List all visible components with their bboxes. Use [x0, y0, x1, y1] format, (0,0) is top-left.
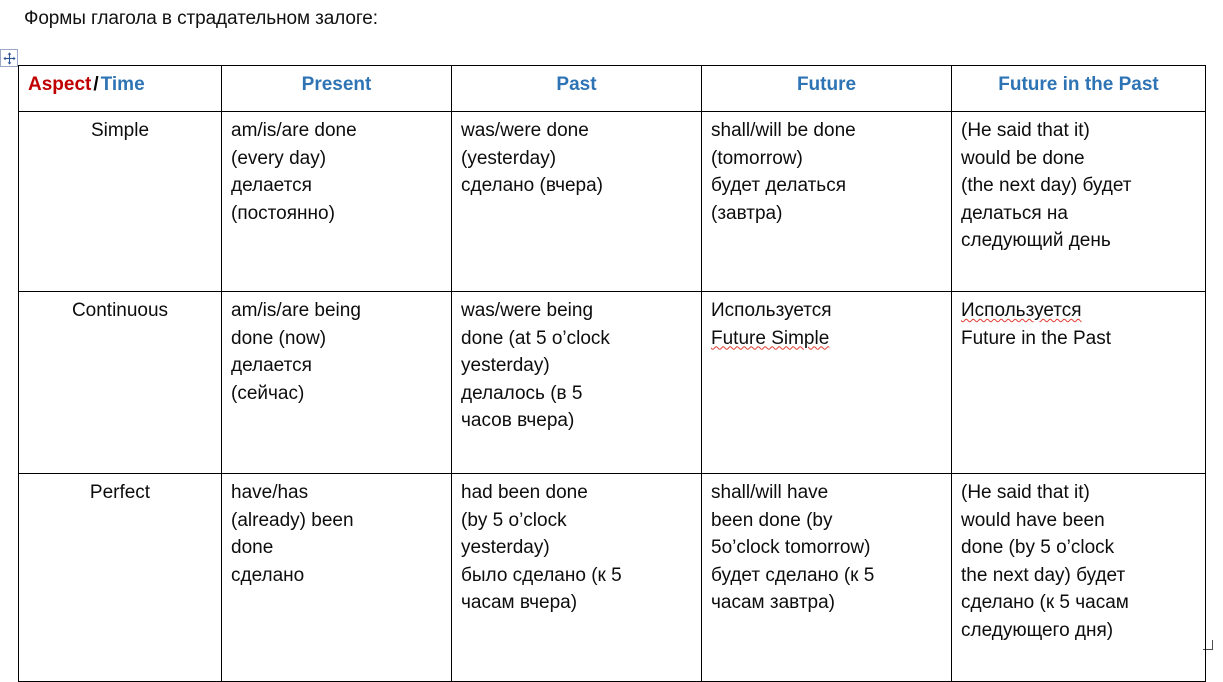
cell-perfect-present: have/has (already) been done сделано [222, 474, 452, 682]
cell-continuous-present: am/is/are being done (now) делается (сей… [222, 292, 452, 474]
cell-line: Future in the Past [961, 325, 1196, 353]
cell-line: будет сделано (к 5 [711, 562, 942, 590]
cell-line: yesterday) [461, 534, 692, 562]
table-row: Continuous am/is/are being done (now) де… [19, 292, 1206, 474]
cell-line: следующего дня) [961, 617, 1196, 645]
cell-line: (постоянно) [231, 200, 442, 228]
header-col-present: Present [222, 66, 452, 112]
header-aspect-time: Aspect/Time [19, 66, 222, 112]
cell-perfect-future: shall/will have been done (by 5o’clock t… [702, 474, 952, 682]
cell-line: done [231, 534, 442, 562]
header-col-past: Past [452, 66, 702, 112]
cell-line: делается [231, 352, 442, 380]
header-col-future-in-the-past-label: Future in the Past [998, 74, 1158, 95]
cell-line: сделано (к 5 часам [961, 589, 1196, 617]
cell-line: been done (by [711, 507, 942, 535]
cell-line: done (now) [231, 325, 442, 353]
cell-line: сделано (вчера) [461, 172, 692, 200]
cell-perfect-future-in-the-past: (He said that it) would have been done (… [952, 474, 1206, 682]
cell-line: (He said that it) [961, 117, 1196, 145]
header-col-future-label: Future [797, 74, 856, 95]
cell-line: следующий день [961, 227, 1196, 255]
header-col-past-label: Past [556, 74, 596, 95]
cell-line: am/is/are being [231, 297, 442, 325]
cell-line: часам завтра) [711, 589, 942, 617]
aspect-label-simple: Simple [19, 112, 222, 292]
document-page: Формы глагола в страдательном залоге: [0, 0, 1223, 653]
cell-line: the next day) будет [961, 562, 1196, 590]
page-title: Формы глагола в страдательном залоге: [24, 6, 378, 32]
cell-line: would be done [961, 145, 1196, 173]
cell-line: делается [231, 172, 442, 200]
cell-line: done (at 5 o’clock [461, 325, 692, 353]
table-row: Simple am/is/are done (every day) делает… [19, 112, 1206, 292]
cell-line: was/were being [461, 297, 692, 325]
cell-line: am/is/are done [231, 117, 442, 145]
end-of-table-marker [1203, 640, 1213, 650]
cell-line: (завтра) [711, 200, 942, 228]
cell-line: делалось (в 5 [461, 380, 692, 408]
cell-line: done (by 5 o’clock [961, 534, 1196, 562]
cell-line: shall/will have [711, 479, 942, 507]
cell-simple-future-in-the-past: (He said that it) would be done (the nex… [952, 112, 1206, 292]
cell-line: (already) been [231, 507, 442, 535]
cell-line: Используется [711, 297, 942, 325]
cell-line: shall/will be done [711, 117, 942, 145]
cell-line: (every day) [231, 145, 442, 173]
cell-line-misspelled: Future Simple [711, 325, 942, 353]
cell-line: (сейчас) [231, 380, 442, 408]
header-aspect-label: Aspect [28, 74, 91, 95]
cell-line-misspelled: Используется [961, 297, 1196, 325]
cell-line: (tomorrow) [711, 145, 942, 173]
cell-line: (by 5 o’clock [461, 507, 692, 535]
cell-simple-present: am/is/are done (every day) делается (пос… [222, 112, 452, 292]
header-col-future-in-the-past: Future in the Past [952, 66, 1206, 112]
cell-line: yesterday) [461, 352, 692, 380]
cell-line: было сделано (к 5 [461, 562, 692, 590]
cell-perfect-past: had been done (by 5 o’clock yesterday) б… [452, 474, 702, 682]
table-row: Perfect have/has (already) been done сде… [19, 474, 1206, 682]
cell-simple-past: was/were done (yesterday) сделано (вчера… [452, 112, 702, 292]
header-col-future: Future [702, 66, 952, 112]
cell-line: (the next day) будет [961, 172, 1196, 200]
cell-line: had been done [461, 479, 692, 507]
cell-line: 5o’clock tomorrow) [711, 534, 942, 562]
cell-line: was/were done [461, 117, 692, 145]
cell-line: будет делаться [711, 172, 942, 200]
cell-line: сделано [231, 562, 442, 590]
header-time-label: Time [101, 74, 145, 95]
cell-line: часам вчера) [461, 589, 692, 617]
aspect-label-continuous: Continuous [19, 292, 222, 474]
cell-line: have/has [231, 479, 442, 507]
aspect-label-perfect: Perfect [19, 474, 222, 682]
cell-line: часов вчера) [461, 407, 692, 435]
header-separator: / [91, 74, 100, 95]
cell-continuous-future-in-the-past: Используется Future in the Past [952, 292, 1206, 474]
cell-simple-future: shall/will be done (tomorrow) будет дела… [702, 112, 952, 292]
cell-line: (yesterday) [461, 145, 692, 173]
table-header-row: Aspect/Time Present Past Future Future i… [19, 66, 1206, 112]
header-col-present-label: Present [302, 74, 372, 95]
cell-line: (He said that it) [961, 479, 1196, 507]
cell-continuous-future: Используется Future Simple [702, 292, 952, 474]
passive-voice-table: Aspect/Time Present Past Future Future i… [18, 65, 1206, 682]
move-table-icon[interactable] [0, 49, 18, 67]
cell-continuous-past: was/were being done (at 5 o’clock yester… [452, 292, 702, 474]
cell-line: would have been [961, 507, 1196, 535]
cell-line: делаться на [961, 200, 1196, 228]
